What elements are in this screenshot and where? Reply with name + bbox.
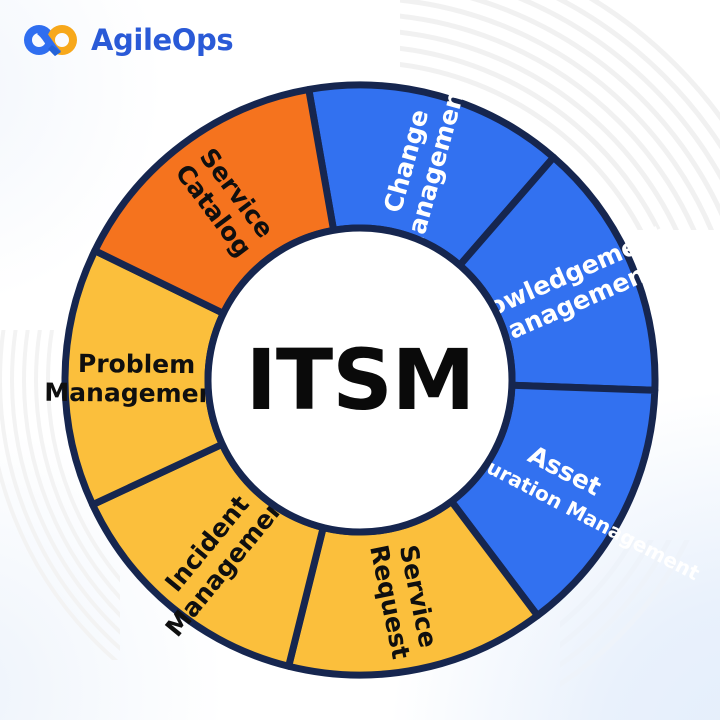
brand-wordmark: AgileOps — [91, 26, 233, 55]
itsm-donut-diagram: ChangeManagementKnowledgementManagementA… — [0, 0, 720, 720]
canvas: AgileOps ChangeManagementKnowledgementMa… — [0, 0, 720, 720]
hub-label: ITSM — [246, 331, 475, 429]
brand-logo: AgileOps — [22, 20, 233, 60]
segment-label-line: Management — [44, 378, 228, 409]
segment-label-line: Problem — [78, 349, 196, 379]
agileops-infinity-icon — [22, 20, 80, 60]
